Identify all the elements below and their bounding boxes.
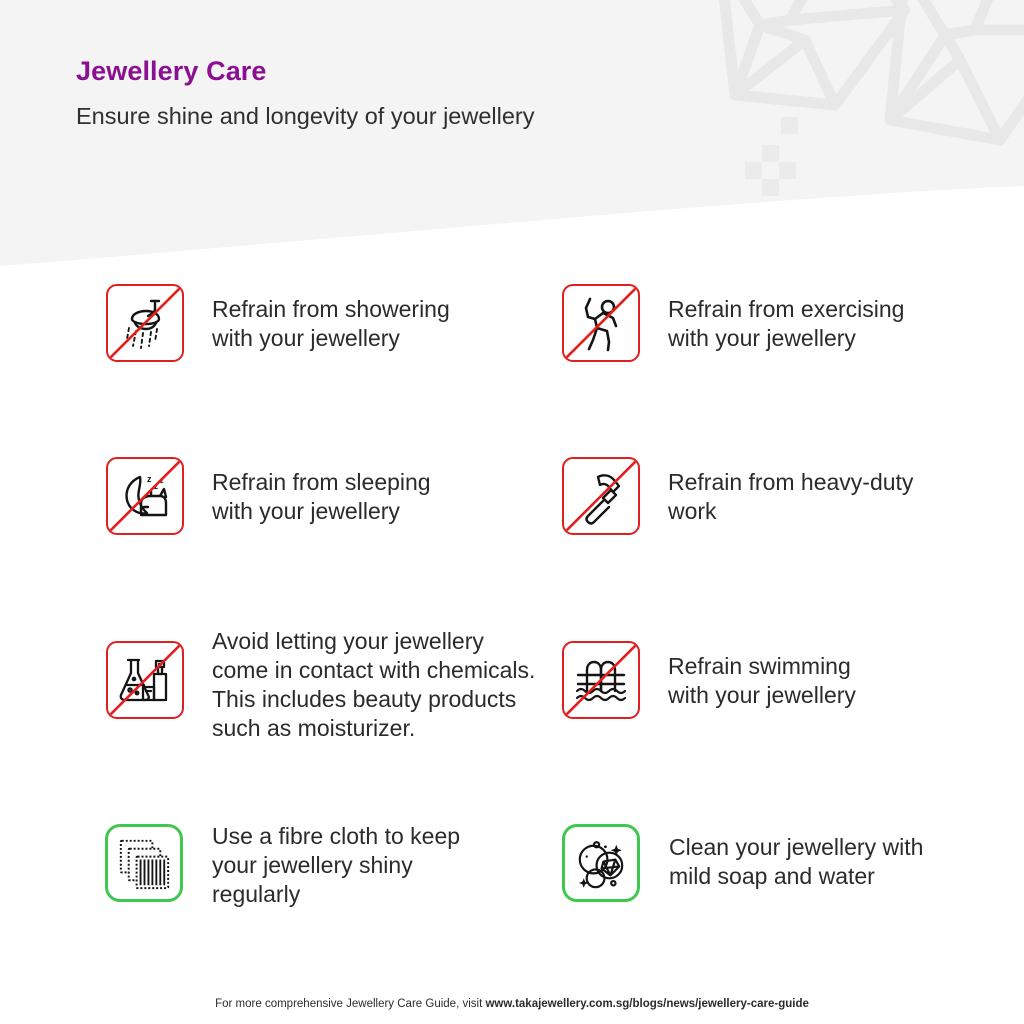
soap-bubbles-gem-icon bbox=[565, 827, 638, 900]
footer: For more comprehensive Jewellery Care Gu… bbox=[0, 996, 1024, 1012]
chemical-flask-bottles-icon bbox=[108, 643, 182, 717]
tile-mild-soap bbox=[562, 824, 640, 902]
tile-swimming bbox=[562, 641, 640, 719]
care-item-fibre-cloth: Use a fibre cloth to keep your jewellery… bbox=[105, 824, 460, 909]
care-item-swimming: Refrain swimming with your jewellery bbox=[562, 641, 856, 719]
person-exercising-icon bbox=[564, 286, 638, 360]
svg-text:z: z bbox=[147, 474, 152, 484]
care-item-label: Refrain from showering with your jewelle… bbox=[212, 295, 450, 353]
moon-sleeping-cat-icon: z z z bbox=[108, 459, 182, 533]
tile-fibre-cloth bbox=[105, 824, 183, 902]
care-item-label: Use a fibre cloth to keep your jewellery… bbox=[212, 822, 460, 909]
care-item-label: Avoid letting your jewellery come in con… bbox=[212, 627, 535, 743]
care-item-mild-soap: Clean your jewellery with mild soap and … bbox=[562, 824, 923, 902]
care-item-chemicals: Avoid letting your jewellery come in con… bbox=[106, 641, 535, 743]
tile-showering bbox=[106, 284, 184, 362]
shower-head-icon bbox=[108, 286, 182, 360]
care-item-label: Clean your jewellery with mild soap and … bbox=[669, 833, 923, 891]
tile-heavy-duty bbox=[562, 457, 640, 535]
care-item-label: Refrain from exercising with your jewell… bbox=[668, 295, 904, 353]
fibre-cloth-stack-icon bbox=[108, 827, 181, 900]
care-item-label: Refrain from sleeping with your jeweller… bbox=[212, 468, 431, 526]
hammer-icon bbox=[564, 459, 638, 533]
care-item-heavy-duty: Refrain from heavy-duty work bbox=[562, 457, 913, 535]
care-item-label: Refrain swimming with your jewellery bbox=[668, 652, 856, 710]
care-items-grid: Refrain from showering with your jewelle… bbox=[0, 0, 1024, 1024]
page-title: Jewellery Care bbox=[76, 54, 535, 88]
care-item-label: Refrain from heavy-duty work bbox=[668, 468, 913, 526]
page-subtitle: Ensure shine and longevity of your jewel… bbox=[76, 101, 535, 131]
tile-exercising bbox=[562, 284, 640, 362]
care-item-exercising: Refrain from exercising with your jewell… bbox=[562, 284, 904, 362]
swimming-pool-ladder-icon bbox=[564, 643, 638, 717]
tile-chemicals bbox=[106, 641, 184, 719]
care-item-sleeping: z z z Refrain from sleeping with your je… bbox=[106, 457, 431, 535]
footer-url-link[interactable]: www.takajewellery.com.sg/blogs/news/jewe… bbox=[485, 998, 808, 1010]
footer-prefix-text: For more comprehensive Jewellery Care Gu… bbox=[215, 998, 485, 1010]
header-text-block: Jewellery Care Ensure shine and longevit… bbox=[76, 54, 535, 131]
svg-text:z: z bbox=[154, 482, 158, 491]
svg-text:z: z bbox=[160, 478, 164, 485]
tile-sleeping: z z z bbox=[106, 457, 184, 535]
care-item-showering: Refrain from showering with your jewelle… bbox=[106, 284, 450, 362]
